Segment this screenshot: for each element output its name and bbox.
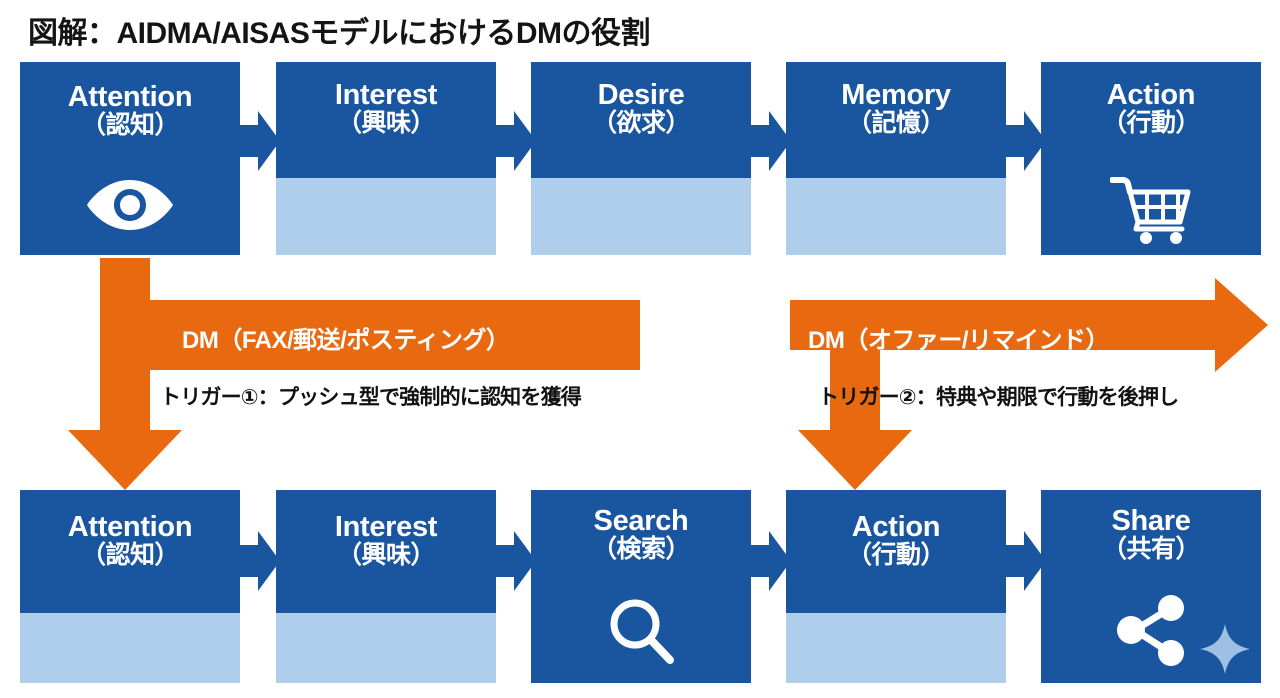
diagram-canvas: 図解：AIDMA/AISASモデルにおけるDMの役割 Attention （認知…: [0, 0, 1280, 698]
flow-arrow-aisas-2: [494, 525, 536, 597]
box-fill: [786, 62, 1006, 178]
dm-flow-left-shape: [68, 258, 640, 490]
aisas-stage-action[interactable]: Action （行動）: [786, 490, 1006, 683]
flow-arrow-aisas-4: [1004, 525, 1046, 597]
dm-flow-left-trigger: トリガー①：プッシュ型で強制的に認知を獲得: [160, 381, 581, 411]
aisas-stage-search[interactable]: Search （検索）: [531, 490, 751, 683]
flow-arrow-aidma-3: [749, 105, 791, 177]
aidma-stage-action[interactable]: Action （行動）: [1041, 62, 1261, 255]
aisas-stage-attention[interactable]: Attention （認知）: [20, 490, 240, 683]
dm-flow-right-label: DM（オファー/リマインド）: [808, 320, 1109, 355]
aidma-stage-interest[interactable]: Interest （興味）: [276, 62, 496, 255]
sparkle-icon: [1199, 623, 1251, 675]
flow-arrow-aisas-3: [749, 525, 791, 597]
box-fill: [276, 62, 496, 178]
box-fill: [786, 490, 1006, 613]
box-fill: [20, 62, 240, 255]
box-fill: [20, 490, 240, 613]
flow-arrow-aidma-4: [1004, 105, 1046, 177]
aidma-stage-desire[interactable]: Desire （欲求）: [531, 62, 751, 255]
aisas-stage-interest[interactable]: Interest （興味）: [276, 490, 496, 683]
aidma-stage-memory[interactable]: Memory （記憶）: [786, 62, 1006, 255]
dm-flow-right-trigger: トリガー②：特典や期限で行動を後押し: [818, 381, 1178, 411]
flow-arrow-aidma-1: [238, 105, 280, 177]
page-title: 図解：AIDMA/AISASモデルにおけるDMの役割: [28, 8, 650, 52]
box-fill: [1041, 62, 1261, 255]
box-fill: [531, 490, 751, 683]
aisas-stage-share[interactable]: Share （共有）: [1041, 490, 1261, 683]
dm-flow-left-label: DM（FAX/郵送/ポスティング）: [182, 320, 509, 355]
flow-arrow-aisas-1: [238, 525, 280, 597]
box-fill: [531, 62, 751, 178]
box-fill: [276, 490, 496, 613]
aidma-stage-attention[interactable]: Attention （認知）: [20, 62, 240, 255]
flow-arrow-aidma-2: [494, 105, 536, 177]
